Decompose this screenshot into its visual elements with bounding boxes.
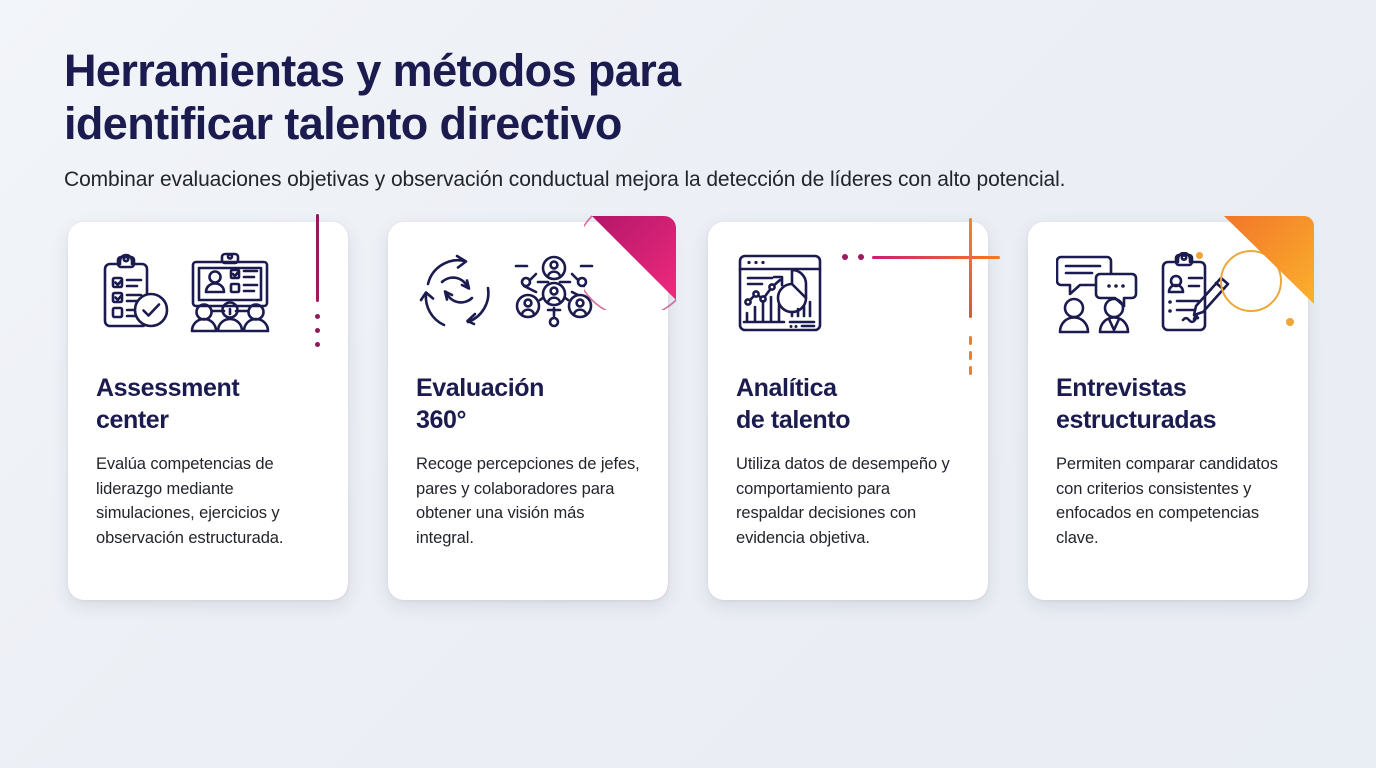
page-subtitle: Combinar evaluaciones objetivas y observ… [64, 166, 1312, 194]
card-analitica-de-talento[interactable]: Analítica de talento Utiliza datos de de… [708, 222, 988, 600]
clipboard-check-icon [96, 252, 172, 334]
analytics-dashboard-icon [736, 252, 824, 334]
page-title: Herramientas y métodos para identificar … [64, 44, 824, 150]
header: Herramientas y métodos para identificar … [64, 44, 1312, 194]
card-entrevistas-estructuradas[interactable]: Entrevistas estructuradas Permiten compa… [1028, 222, 1308, 600]
card-icons [736, 252, 960, 344]
presentation-audience-icon [188, 252, 272, 334]
card-title: Evaluación 360° [416, 372, 640, 436]
card-title: Analítica de talento [736, 372, 960, 436]
card-slot-analitica-de-talento: Analítica de talento Utiliza datos de de… [704, 214, 992, 604]
card-slot-assessment-center: Assessment center Evalúa competencias de… [64, 214, 352, 604]
clipboard-pen-icon [1156, 252, 1234, 334]
cycle-arrows-icon [416, 252, 498, 334]
card-slot-evaluacion-360: Evaluación 360° Recoge percepciones de j… [384, 214, 672, 604]
card-title: Entrevistas estructuradas [1056, 372, 1280, 436]
card-description: Utiliza datos de desempeño y comportamie… [736, 452, 960, 550]
card-icons [416, 252, 640, 344]
card-icons [96, 252, 320, 344]
card-description: Evalúa competencias de liderazgo mediant… [96, 452, 320, 550]
card-icons [1056, 252, 1280, 344]
card-evaluacion-360[interactable]: Evaluación 360° Recoge percepciones de j… [388, 222, 668, 600]
card-slot-entrevistas-estructuradas: Entrevistas estructuradas Permiten compa… [1024, 214, 1312, 604]
card-description: Recoge percepciones de jefes, pares y co… [416, 452, 640, 550]
card-title: Assessment center [96, 372, 320, 436]
card-grid: Assessment center Evalúa competencias de… [64, 214, 1312, 604]
people-network-icon [514, 252, 594, 334]
card-assessment-center[interactable]: Assessment center Evalúa competencias de… [68, 222, 348, 600]
chat-people-icon [1056, 252, 1140, 334]
infographic-page: Herramientas y métodos para identificar … [0, 0, 1376, 768]
card-description: Permiten comparar candidatos con criteri… [1056, 452, 1280, 550]
